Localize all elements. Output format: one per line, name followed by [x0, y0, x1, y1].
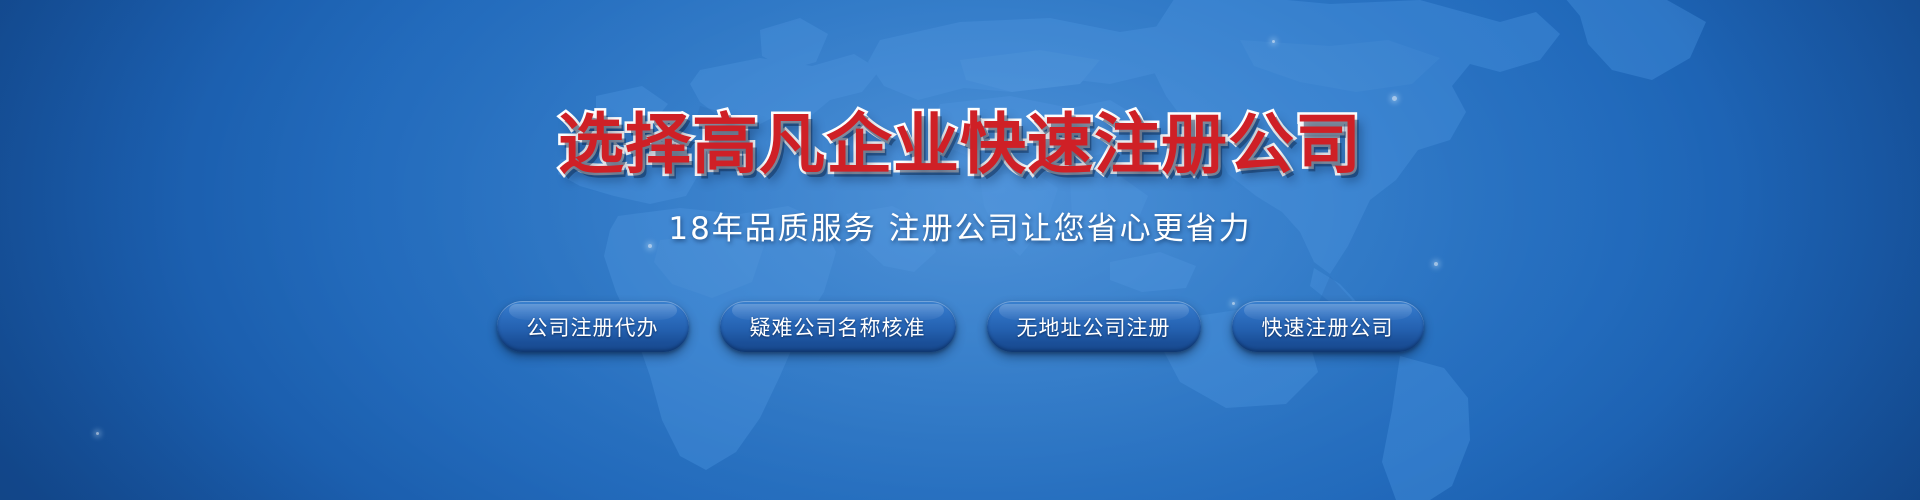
- cta-button-no-address-registration[interactable]: 无地址公司注册: [987, 301, 1201, 352]
- cta-button-row: 公司注册代办 疑难公司名称核准 无地址公司注册 快速注册公司: [497, 301, 1424, 352]
- cta-button-difficult-name-approval[interactable]: 疑难公司名称核准: [720, 301, 956, 352]
- subtitle: 18年品质服务 注册公司让您省心更省力: [668, 214, 1251, 245]
- hero-banner: 选择高凡企业快速注册公司 18年品质服务 注册公司让您省心更省力 公司注册代办 …: [0, 0, 1920, 500]
- banner-content: 选择高凡企业快速注册公司 18年品质服务 注册公司让您省心更省力 公司注册代办 …: [0, 0, 1920, 500]
- cta-button-fast-registration[interactable]: 快速注册公司: [1232, 301, 1424, 352]
- page-title: 选择高凡企业快速注册公司: [558, 112, 1362, 178]
- cta-button-company-registration-agency[interactable]: 公司注册代办: [497, 301, 689, 352]
